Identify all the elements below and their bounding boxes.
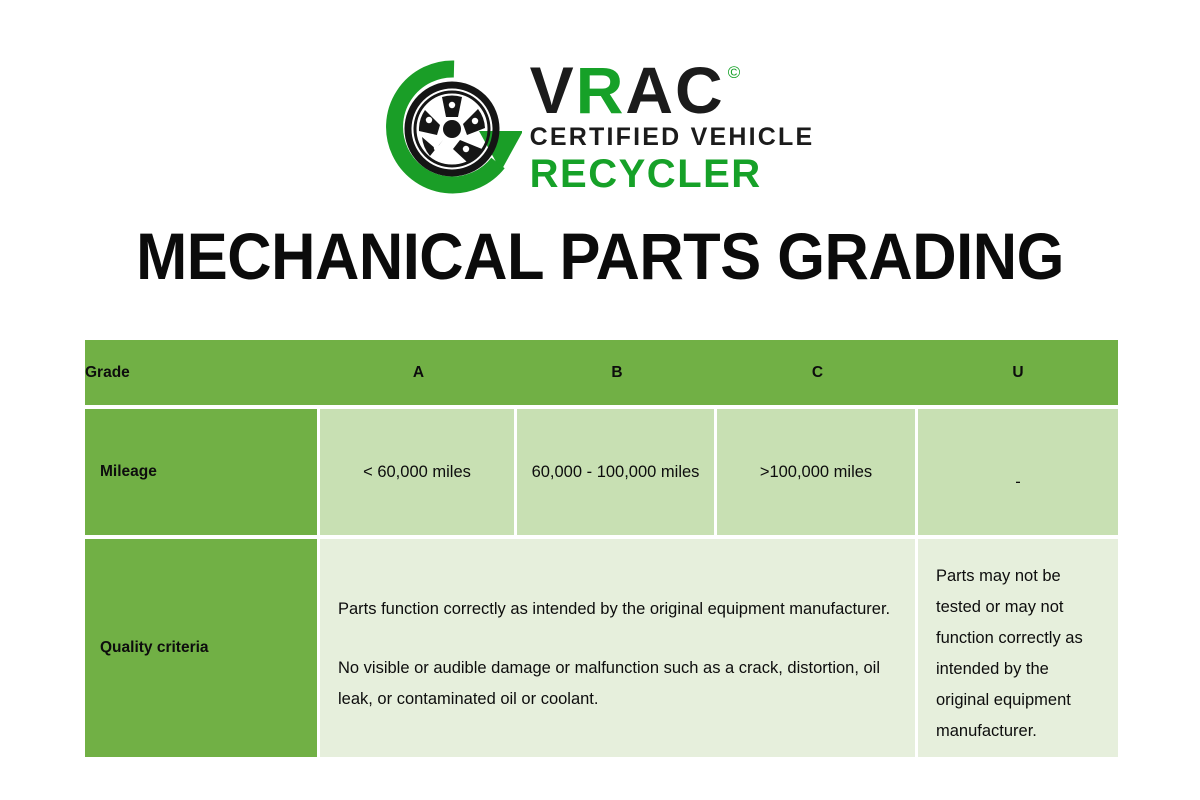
header-grade-b: B [517, 340, 717, 405]
header-grade-c: C [717, 340, 918, 405]
quality-paragraph-1: Parts function correctly as intended by … [338, 594, 897, 625]
logo-letter-v: V [530, 60, 576, 120]
quality-paragraph-u: Parts may not be tested or may not funct… [936, 561, 1100, 747]
table-header-row: Grade A B C U [85, 340, 1118, 405]
header-grade-u: U [918, 340, 1118, 405]
logo-recycler-text: RECYCLER [530, 153, 762, 195]
table-row-quality-criteria: Quality criteria Parts function correctl… [85, 539, 1118, 757]
header-grade-a: A [320, 340, 517, 405]
header-grade-label: Grade [85, 340, 320, 405]
recycle-arrow-wheel-icon [386, 59, 522, 195]
quality-criteria-u-cell: Parts may not be tested or may not funct… [918, 539, 1118, 757]
logo-wordmark: VRAC© CERTIFIED VEHICLE RECYCLER [530, 60, 815, 195]
mechanical-parts-grading-table: Grade A B C U Mileage < 60,000 miles 60,… [85, 340, 1118, 757]
quality-criteria-abc-cell: Parts function correctly as intended by … [320, 539, 918, 757]
logo-letter-r: R [576, 60, 626, 120]
mileage-grade-c-value: >100,000 miles [717, 409, 918, 535]
copyright-icon: © [728, 64, 743, 81]
row-label-quality-criteria: Quality criteria [85, 539, 320, 757]
mileage-grade-a-value: < 60,000 miles [320, 409, 517, 535]
logo-tagline: CERTIFIED VEHICLE [530, 122, 815, 152]
logo-letters-ac: AC [625, 60, 724, 120]
logo-vrac-text: VRAC© [530, 60, 743, 120]
brand-logo: VRAC© CERTIFIED VEHICLE RECYCLER [0, 52, 1200, 202]
table-row-mileage: Mileage < 60,000 miles 60,000 - 100,000 … [85, 409, 1118, 535]
mileage-grade-b-value: 60,000 - 100,000 miles [517, 409, 717, 535]
row-label-mileage: Mileage [85, 409, 320, 535]
mileage-grade-u-value: - [918, 409, 1118, 535]
quality-paragraph-2: No visible or audible damage or malfunct… [338, 653, 897, 715]
page-title: MECHANICAL PARTS GRADING [42, 218, 1158, 294]
